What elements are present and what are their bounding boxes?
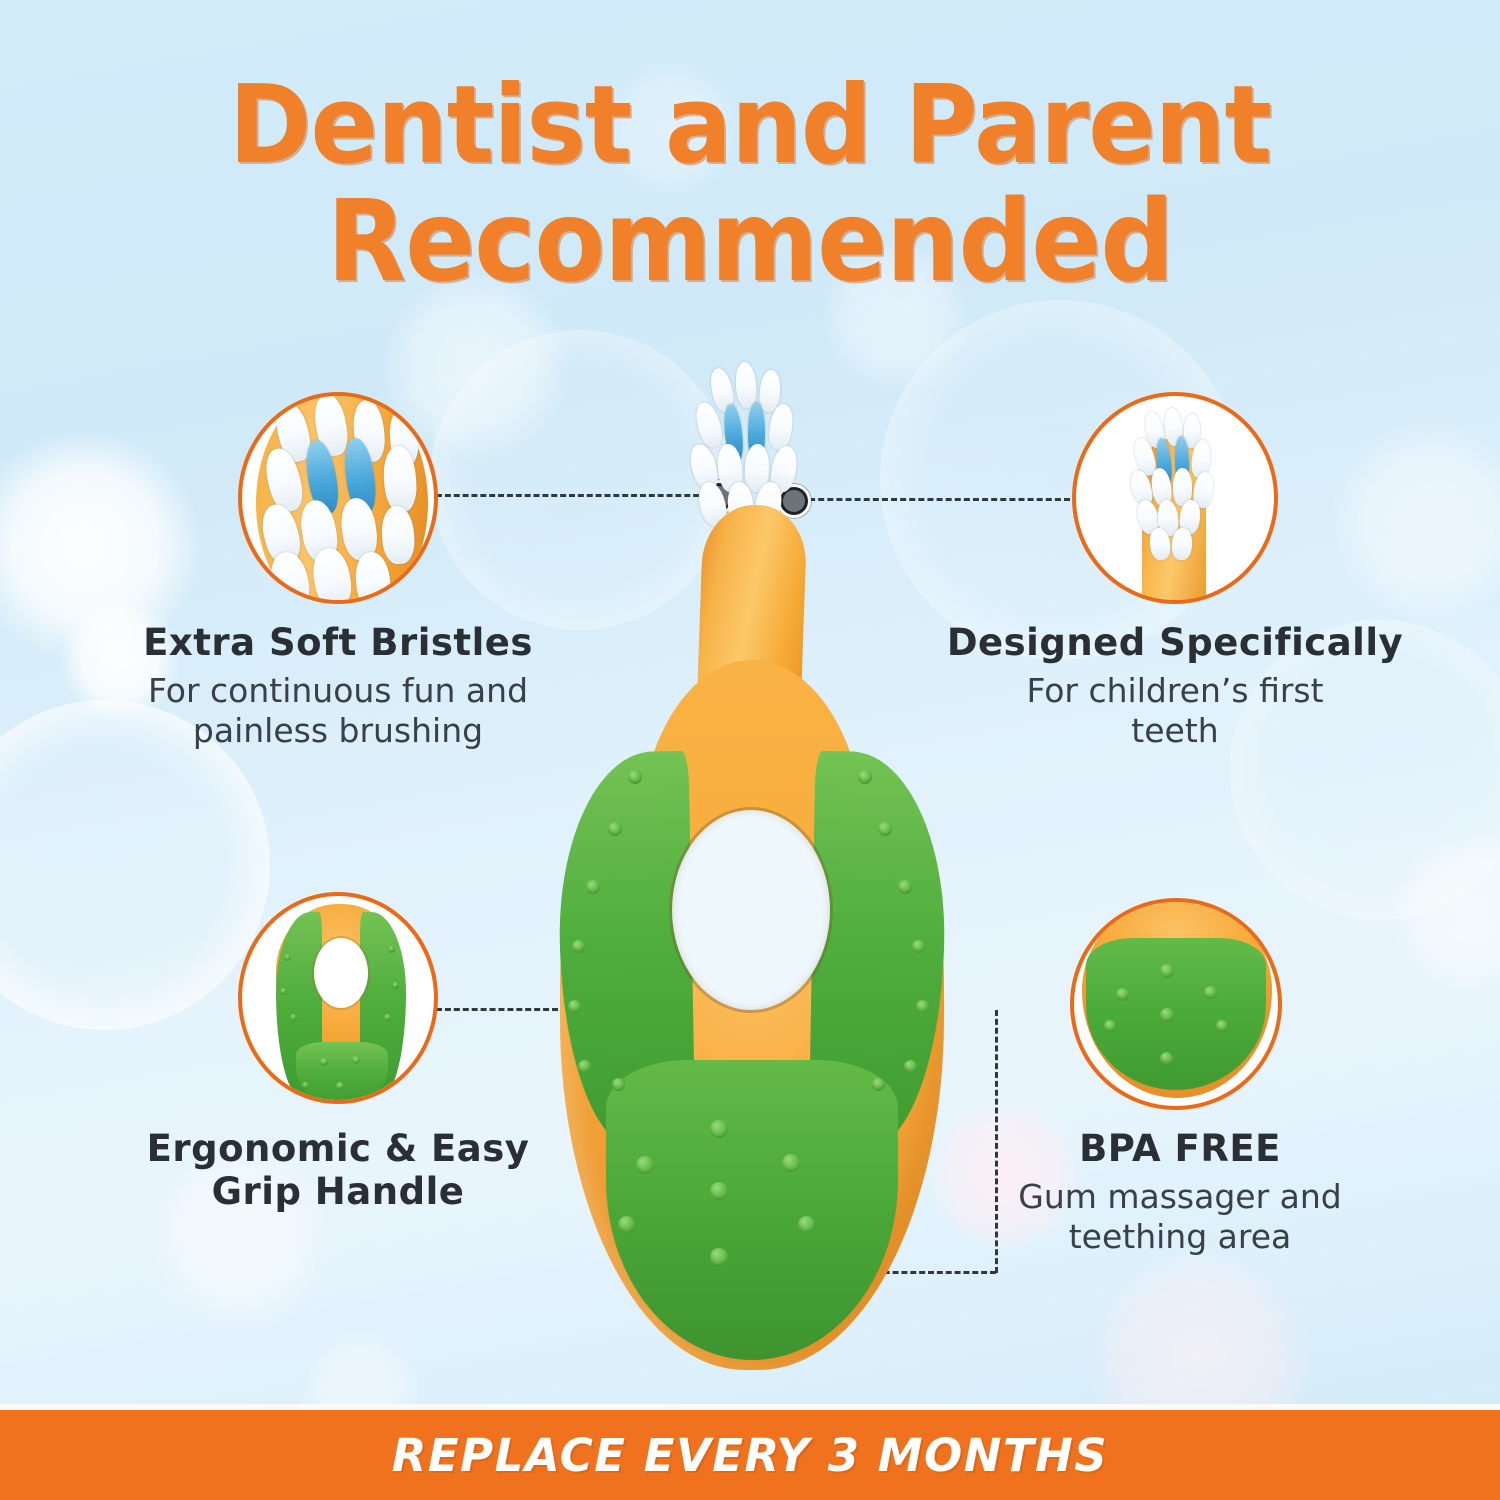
grip-nub bbox=[572, 940, 585, 953]
grip-nub bbox=[872, 1078, 885, 1091]
feature-subtext-line1: For children’s first bbox=[945, 671, 1405, 711]
gum-massager-nub bbox=[618, 1216, 635, 1233]
gum-massager-nub bbox=[710, 1182, 728, 1200]
gum-massager-icon bbox=[1074, 902, 1278, 1106]
feature-subtext-line1: For continuous fun and bbox=[108, 671, 568, 711]
grip-nub bbox=[608, 822, 622, 836]
bokeh-circle bbox=[1330, 420, 1500, 620]
grip-hole bbox=[672, 810, 830, 1010]
feature-subtext-line2: painless brushing bbox=[108, 711, 568, 751]
gum-massager-nub bbox=[782, 1154, 800, 1172]
grip-nub bbox=[586, 880, 600, 894]
title-line-2: Recommended bbox=[60, 186, 1440, 298]
feature-subtext-line1: Gum massager and bbox=[950, 1177, 1410, 1217]
feature-designed-specifically: Designed Specifically For children’s fir… bbox=[945, 622, 1405, 751]
grip-nub bbox=[858, 770, 872, 784]
grip-nub bbox=[898, 880, 912, 894]
grip-nub bbox=[916, 1000, 929, 1013]
feature-heading: Extra Soft Bristles bbox=[108, 622, 568, 665]
callout-designed-specifically bbox=[1072, 392, 1278, 604]
feature-subtext-line2: teeth bbox=[945, 711, 1405, 751]
feature-heading-line1: Ergonomic & Easy bbox=[108, 1128, 568, 1171]
bokeh-circle bbox=[1390, 830, 1500, 990]
feature-ergonomic-grip: Ergonomic & Easy Grip Handle bbox=[108, 1128, 568, 1213]
grip-nub bbox=[568, 1000, 581, 1013]
feature-subtext-line2: teething area bbox=[950, 1217, 1410, 1257]
callout-bpa-free bbox=[1070, 898, 1282, 1110]
gum-massager-nub bbox=[710, 1120, 728, 1138]
callout-extra-soft-bristles bbox=[238, 392, 438, 604]
gum-massager-nub bbox=[710, 1248, 728, 1266]
callout-ergonomic-grip bbox=[238, 892, 438, 1104]
feature-heading-line2: Grip Handle bbox=[108, 1171, 568, 1214]
feature-heading: BPA FREE bbox=[950, 1128, 1410, 1171]
brush-head-icon bbox=[1076, 396, 1274, 600]
grip-nub bbox=[578, 1060, 591, 1073]
main-product-image bbox=[520, 360, 980, 1380]
replace-banner-text: REPLACE EVERY 3 MONTHS bbox=[392, 1429, 1108, 1482]
grip-nub bbox=[628, 770, 642, 784]
product-infographic: Dentist and Parent Recommended bbox=[0, 0, 1500, 1500]
bristle-closeup-icon bbox=[242, 396, 434, 600]
replace-banner: REPLACE EVERY 3 MONTHS bbox=[0, 1404, 1500, 1500]
grip-handle-icon bbox=[242, 896, 434, 1100]
gum-massager-nub bbox=[636, 1156, 654, 1174]
feature-extra-soft-bristles: Extra Soft Bristles For continuous fun a… bbox=[108, 622, 568, 751]
grip-nub bbox=[612, 1078, 625, 1091]
title-line-1: Dentist and Parent bbox=[60, 72, 1440, 180]
gum-massager-nub bbox=[798, 1216, 815, 1233]
feature-bpa-free: BPA FREE Gum massager and teething area bbox=[950, 1128, 1410, 1257]
grip-nub bbox=[912, 940, 925, 953]
grip-nub bbox=[904, 1060, 917, 1073]
grip-nub bbox=[878, 822, 892, 836]
feature-heading: Designed Specifically bbox=[945, 622, 1405, 665]
page-title: Dentist and Parent Recommended bbox=[0, 72, 1500, 298]
